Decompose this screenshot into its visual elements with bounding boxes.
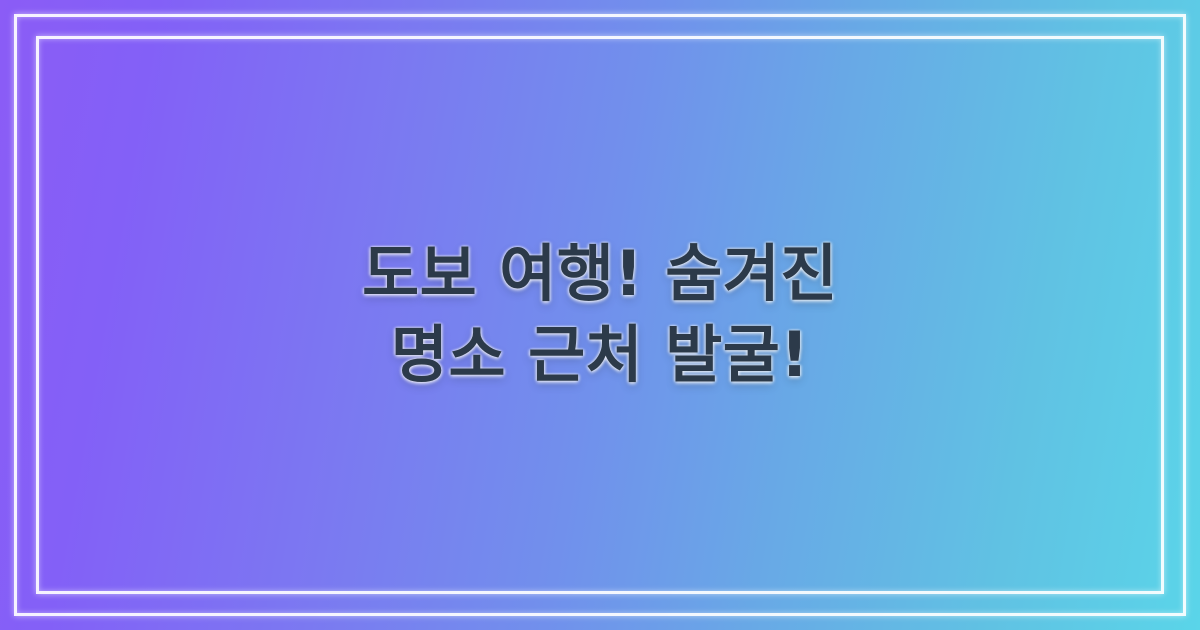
headline-line-1: 도보 여행! 숨겨진 (362, 234, 838, 315)
promo-banner: 도보 여행! 숨겨진 명소 근처 발굴! (0, 0, 1200, 630)
headline-line-2: 명소 근처 발굴! (391, 315, 809, 396)
headline-block: 도보 여행! 숨겨진 명소 근처 발굴! (0, 0, 1200, 630)
